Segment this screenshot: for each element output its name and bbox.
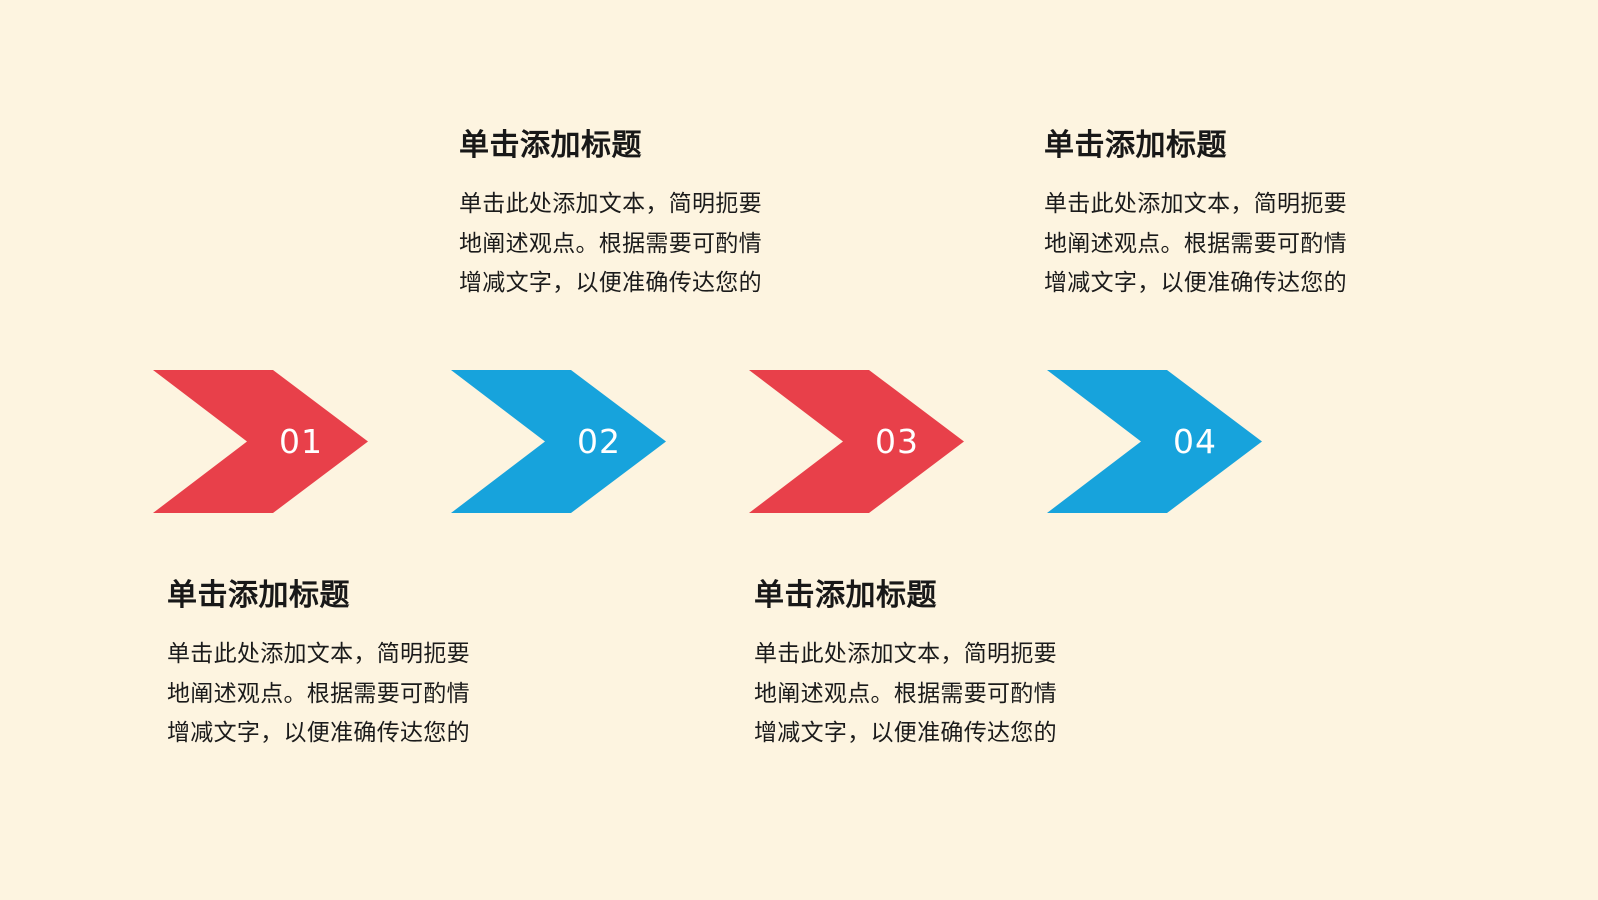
step-text-block-01[interactable]: 单击添加标题 单击此处添加文本，简明扼要 地阐述观点。根据需要可酌情 增减文字，… xyxy=(167,578,567,753)
step-body-04: 单击此处添加文本，简明扼要 地阐述观点。根据需要可酌情 增减文字，以便准确传达您… xyxy=(1044,184,1444,303)
chevron-shape-icon xyxy=(1047,370,1262,513)
step-text-block-03[interactable]: 单击添加标题 单击此处添加文本，简明扼要 地阐述观点。根据需要可酌情 增减文字，… xyxy=(754,578,1154,753)
process-chevron-01[interactable]: 01 xyxy=(153,370,368,513)
process-chevron-03[interactable]: 03 xyxy=(749,370,964,513)
step-body-line: 增减文字，以便准确传达您的 xyxy=(1044,263,1444,303)
step-title-02: 单击添加标题 xyxy=(459,128,859,164)
step-title-04: 单击添加标题 xyxy=(1044,128,1444,164)
step-body-03: 单击此处添加文本，简明扼要 地阐述观点。根据需要可酌情 增减文字，以便准确传达您… xyxy=(754,634,1154,753)
step-body-line: 增减文字，以便准确传达您的 xyxy=(167,713,567,753)
step-body-line: 增减文字，以便准确传达您的 xyxy=(459,263,859,303)
step-body-line: 地阐述观点。根据需要可酌情 xyxy=(754,674,1154,714)
slide-canvas: 单击添加标题 单击此处添加文本，简明扼要 地阐述观点。根据需要可酌情 增减文字，… xyxy=(0,0,1598,900)
step-title-01: 单击添加标题 xyxy=(167,578,567,614)
step-body-01: 单击此处添加文本，简明扼要 地阐述观点。根据需要可酌情 增减文字，以便准确传达您… xyxy=(167,634,567,753)
process-chevron-04[interactable]: 04 xyxy=(1047,370,1262,513)
chevron-shape-icon xyxy=(153,370,368,513)
step-body-line: 单击此处添加文本，简明扼要 xyxy=(1044,184,1444,224)
step-body-line: 地阐述观点。根据需要可酌情 xyxy=(1044,224,1444,264)
step-body-line: 单击此处添加文本，简明扼要 xyxy=(459,184,859,224)
step-body-line: 单击此处添加文本，简明扼要 xyxy=(167,634,567,674)
step-body-line: 地阐述观点。根据需要可酌情 xyxy=(167,674,567,714)
step-body-line: 增减文字，以便准确传达您的 xyxy=(754,713,1154,753)
step-body-line: 单击此处添加文本，简明扼要 xyxy=(754,634,1154,674)
step-body-02: 单击此处添加文本，简明扼要 地阐述观点。根据需要可酌情 增减文字，以便准确传达您… xyxy=(459,184,859,303)
step-body-line: 地阐述观点。根据需要可酌情 xyxy=(459,224,859,264)
chevron-shape-icon xyxy=(749,370,964,513)
process-chevron-02[interactable]: 02 xyxy=(451,370,666,513)
step-text-block-02[interactable]: 单击添加标题 单击此处添加文本，简明扼要 地阐述观点。根据需要可酌情 增减文字，… xyxy=(459,128,859,303)
step-title-03: 单击添加标题 xyxy=(754,578,1154,614)
chevron-shape-icon xyxy=(451,370,666,513)
step-text-block-04[interactable]: 单击添加标题 单击此处添加文本，简明扼要 地阐述观点。根据需要可酌情 增减文字，… xyxy=(1044,128,1444,303)
